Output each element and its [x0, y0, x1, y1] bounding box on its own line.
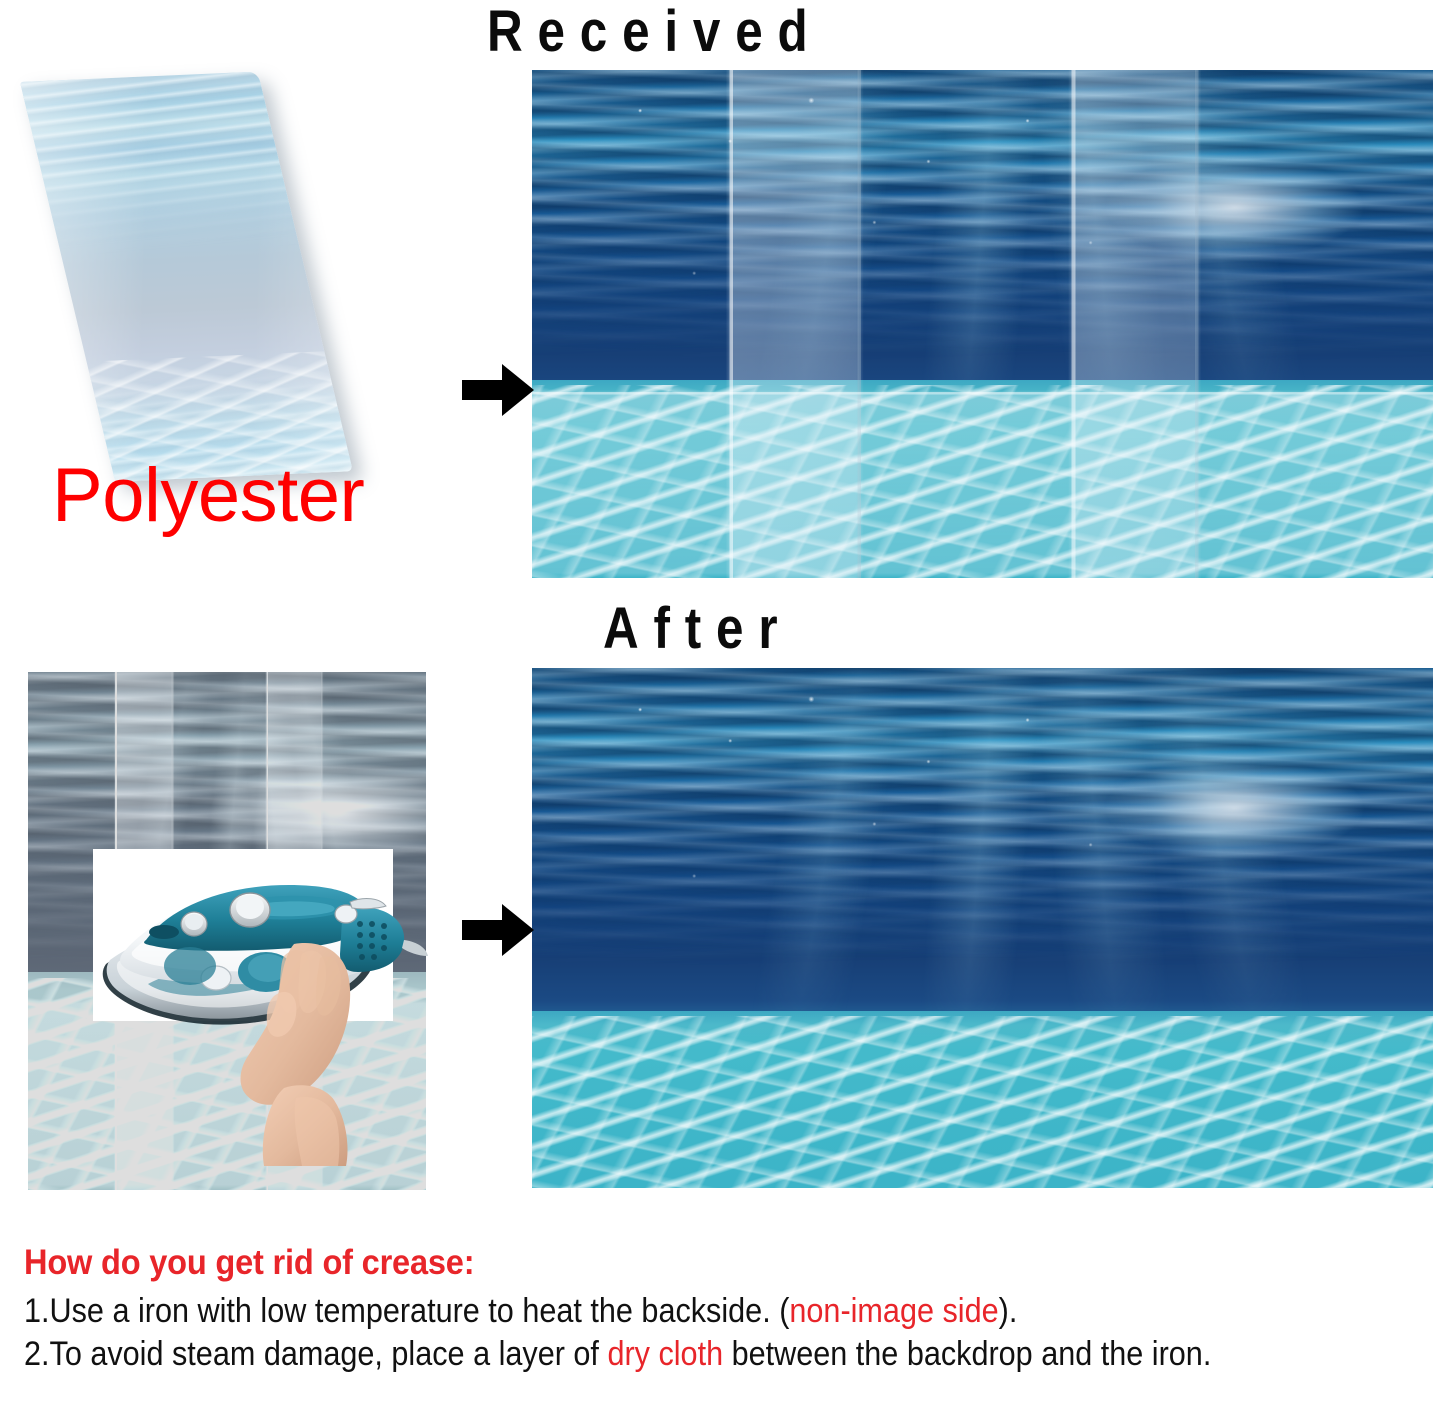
instruction-line-2-highlight: dry cloth	[607, 1335, 723, 1373]
bubbles	[532, 668, 1433, 1188]
instruction-line-2-suffix: between the backdrop and the iron.	[723, 1335, 1211, 1373]
instructions-heading: How do you get rid of crease:	[24, 1243, 1326, 1283]
infographic-canvas: Polyester Received After	[0, 0, 1437, 1401]
iron-rear-vent	[335, 899, 428, 972]
steam-iron-with-hand-illustration	[88, 836, 428, 1166]
polyester-fabric-swatch	[20, 72, 353, 482]
instruction-line-1-prefix: 1.Use a iron with low temperature to hea…	[24, 1292, 789, 1330]
instruction-line-1: 1.Use a iron with low temperature to hea…	[24, 1290, 1284, 1333]
material-label: Polyester	[52, 458, 364, 534]
instruction-line-1-suffix: ).	[999, 1292, 1018, 1330]
received-backdrop-image	[532, 70, 1433, 578]
received-heading: Received	[487, 3, 823, 61]
instruction-line-2-prefix: 2.To avoid steam damage, place a layer o…	[24, 1335, 607, 1373]
after-heading: After	[603, 600, 792, 658]
instructions-block: How do you get rid of crease: 1.Use a ir…	[24, 1243, 1424, 1376]
after-backdrop-image	[532, 668, 1433, 1188]
fabric-sheen	[20, 72, 353, 482]
right-arrow-icon	[462, 902, 534, 958]
instruction-line-1-highlight: non-image side	[789, 1292, 998, 1330]
horizontal-crease-line	[532, 70, 1433, 578]
instruction-line-2: 2.To avoid steam damage, place a layer o…	[24, 1333, 1284, 1376]
right-arrow-icon	[462, 362, 534, 418]
